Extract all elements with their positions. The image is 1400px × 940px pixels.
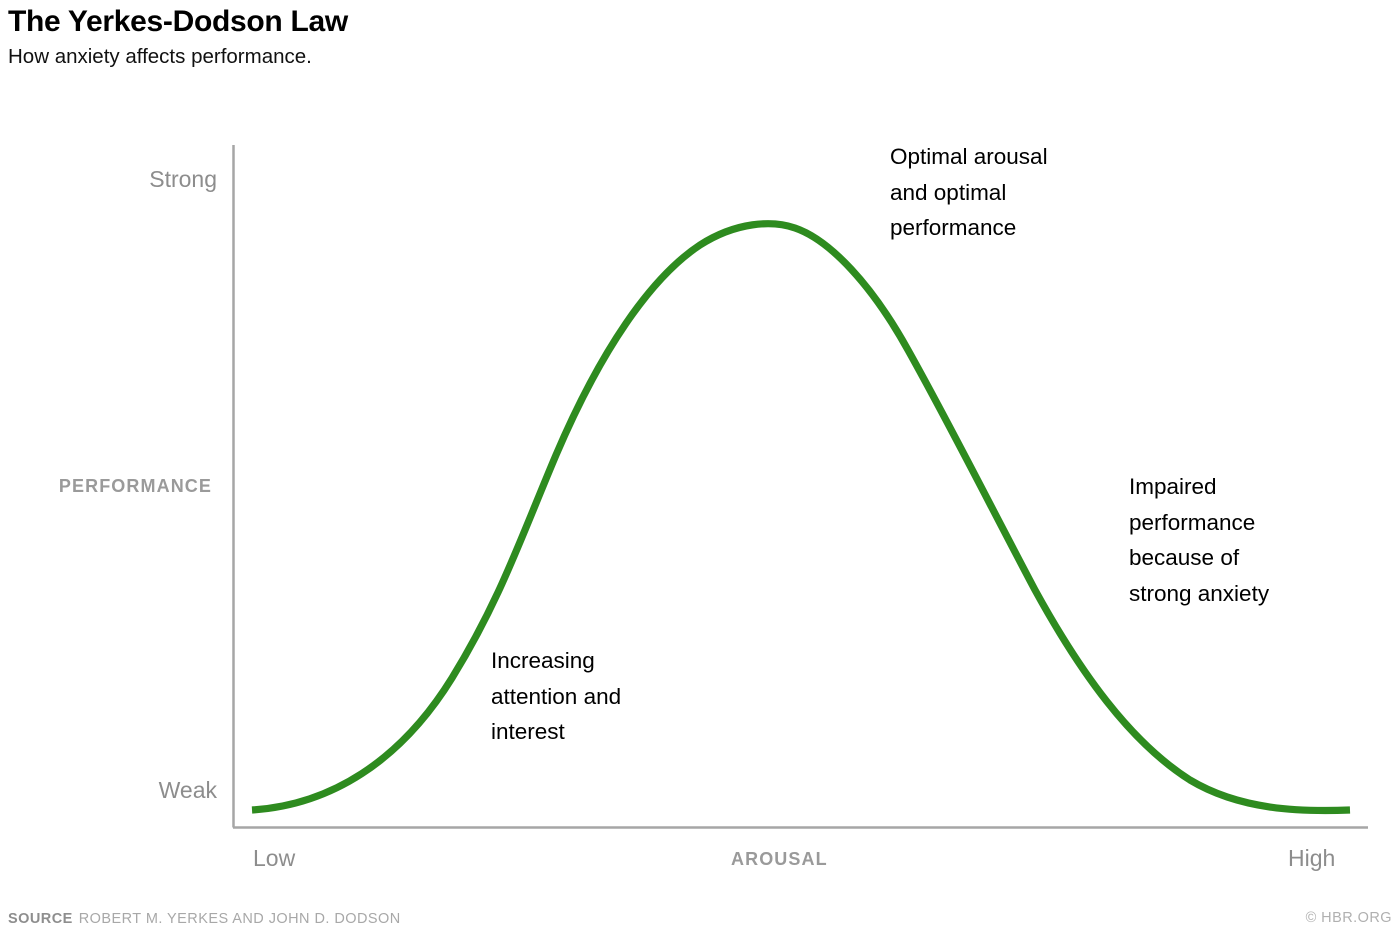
- chart-footer: SOURCEROBERT M. YERKES AND JOHN D. DODSO…: [8, 910, 1392, 934]
- source-label: SOURCE: [8, 911, 73, 927]
- y-axis-title: PERFORMANCE: [59, 475, 212, 497]
- annotation-optimal-arousal: Optimal arousal and optimal performance: [890, 139, 1048, 246]
- copyright-notice: © HBR.ORG: [1306, 910, 1392, 926]
- annotation-impaired-performance: Impaired performance because of strong a…: [1129, 469, 1269, 611]
- source-attribution: ROBERT M. YERKES AND JOHN D. DODSON: [79, 911, 401, 927]
- source-line: SOURCEROBERT M. YERKES AND JOHN D. DODSO…: [8, 910, 401, 928]
- x-axis-tick-low: Low: [253, 845, 295, 871]
- y-axis-tick-weak: Weak: [159, 777, 217, 803]
- yerkes-dodson-curve-svg: [0, 0, 1400, 900]
- x-axis-title: AROUSAL: [731, 848, 828, 870]
- y-axis-tick-strong: Strong: [149, 166, 217, 192]
- x-axis-tick-high: High: [1288, 845, 1335, 871]
- annotation-increasing-attention: Increasing attention and interest: [491, 643, 621, 750]
- chart-plot-area: Strong Weak PERFORMANCE Low High AROUSAL…: [0, 0, 1400, 900]
